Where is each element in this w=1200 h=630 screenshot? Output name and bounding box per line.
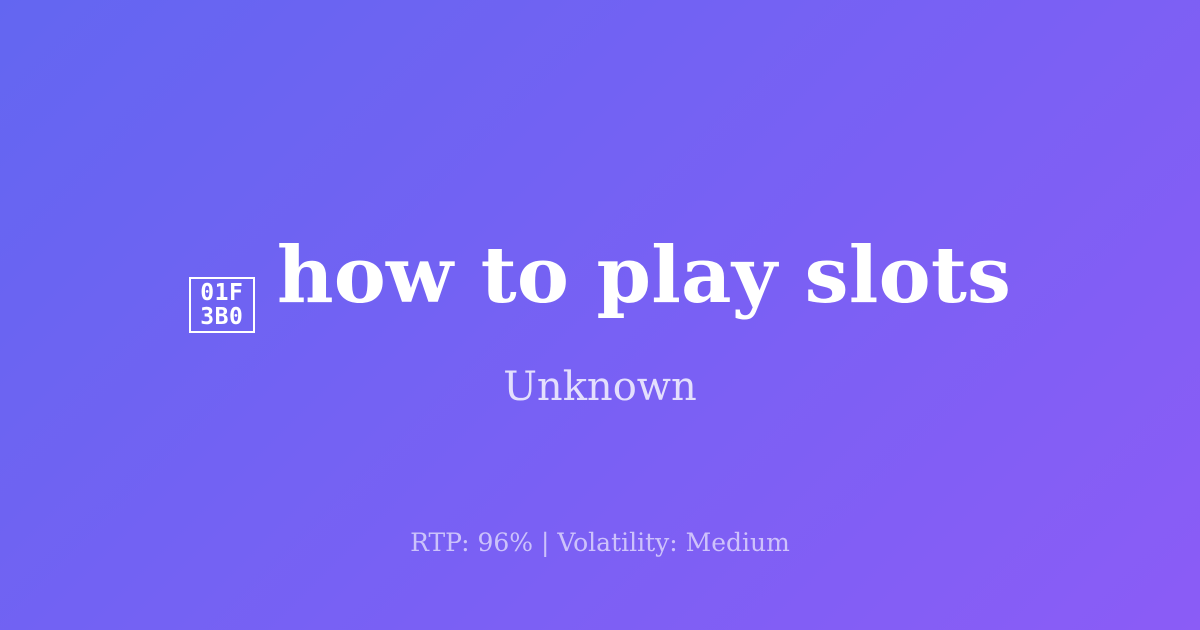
game-stats-line: RTP: 96% | Volatility: Medium <box>0 526 1200 560</box>
title-row: 01F 3B0 how to play slots <box>0 236 1200 316</box>
slot-machine-emoji-icon: 01F 3B0 <box>189 277 255 333</box>
tofu-codepoint-bottom: 3B0 <box>200 305 243 329</box>
page-title: how to play slots <box>277 236 1011 316</box>
subtitle: Unknown <box>0 362 1200 412</box>
open-graph-card: 01F 3B0 how to play slots Unknown RTP: 9… <box>0 0 1200 630</box>
tofu-codepoint-top: 01F <box>200 281 243 305</box>
